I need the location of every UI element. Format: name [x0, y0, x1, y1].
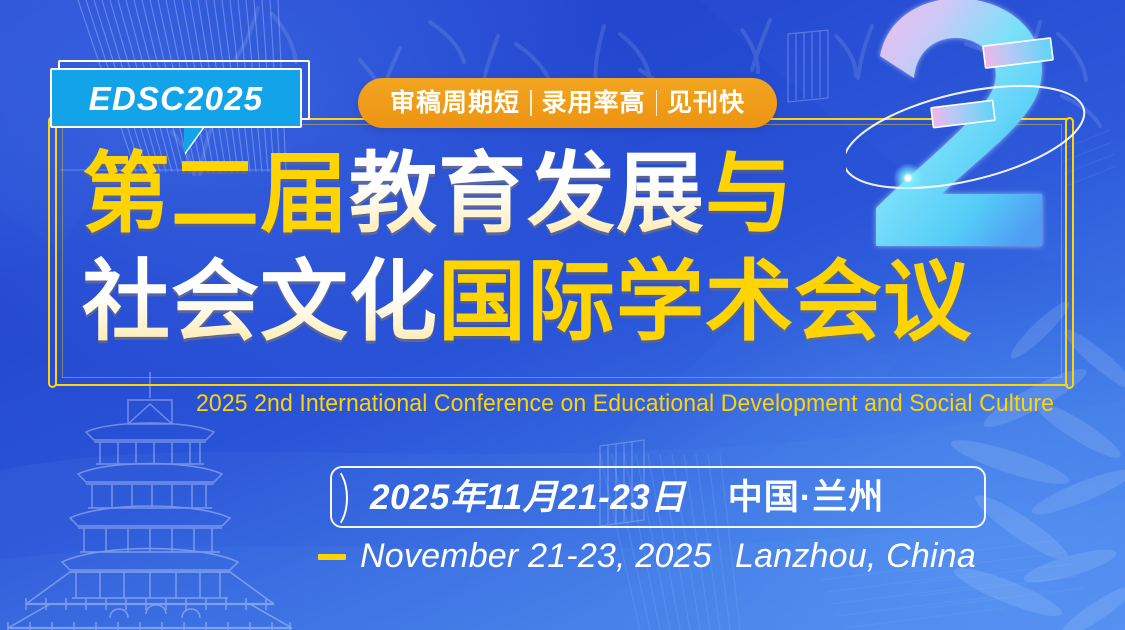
location-chinese: 中国·兰州 [728, 480, 885, 515]
highlight-item-1: 审稿周期短 [380, 91, 530, 116]
frame-bar-left [48, 116, 57, 388]
title-line2-seg1: 社会文化 [82, 252, 438, 351]
date-chinese: 2025年11月21-23日 [370, 480, 686, 515]
title-line2-seg2: 国际学术会议 [438, 252, 972, 351]
frame-line-bottom [56, 384, 1068, 386]
numeral-two-graphic [846, 0, 1125, 294]
highlight-pill: 审稿周期短 录用率高 见刊快 [358, 78, 777, 128]
edsc-badge-label: EDSC2025 [89, 82, 264, 115]
location-english: Lanzhou, China [735, 536, 976, 577]
title-line-1: 第二届教育发展与 [82, 150, 794, 238]
title-line1-seg1: 第二届 [82, 144, 349, 243]
title-line-2: 社会文化国际学术会议 [82, 258, 972, 346]
highlight-item-2: 录用率高 [532, 91, 656, 116]
conference-banner: EDSC2025 审稿周期短 录用率高 见刊快 第二届教育发展与 社会文化国际学… [0, 0, 1125, 630]
date-location-box: 2025年11月21-23日 中国·兰州 [330, 466, 986, 528]
highlight-item-3: 见刊快 [657, 91, 755, 116]
title-line1-seg2: 教育发展 [349, 144, 705, 243]
edsc-badge[interactable]: EDSC2025 [50, 68, 302, 128]
title-line1-seg3: 与 [705, 144, 794, 243]
date-english: November 21-23, 2025 [360, 536, 712, 577]
subtitle-english: 2025 2nd International Conference on Edu… [196, 392, 1054, 416]
dash-marker-icon [318, 554, 346, 560]
